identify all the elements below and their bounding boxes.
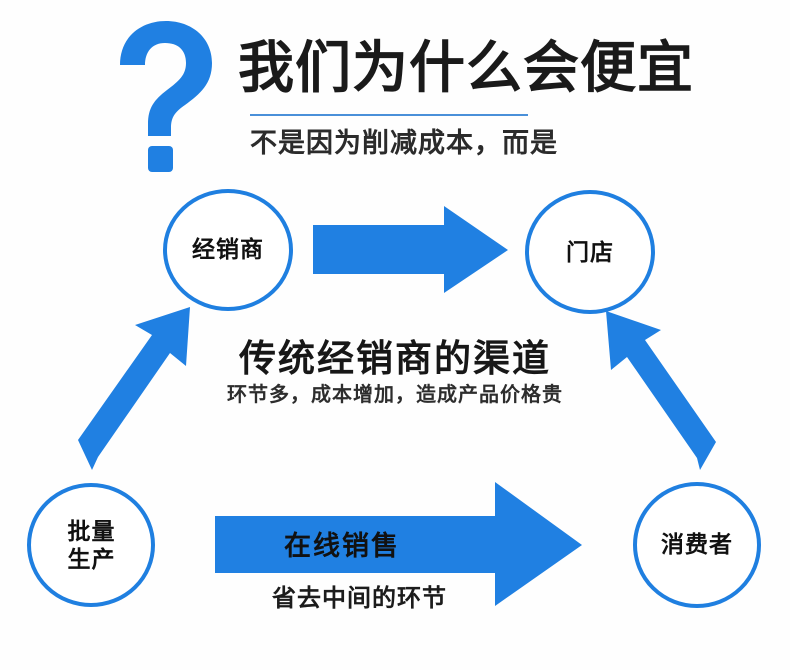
node-consumer-label: 消费者 xyxy=(661,531,733,558)
node-production[interactable]: 批量 生产 xyxy=(27,483,156,608)
node-production-label-line1: 批量 xyxy=(68,518,116,544)
node-consumer[interactable]: 消费者 xyxy=(632,482,762,608)
online-sales-caption: 省去中间的环节 xyxy=(272,578,447,613)
node-production-label-line2: 生产 xyxy=(68,546,116,572)
node-store[interactable]: 门店 xyxy=(524,190,656,315)
node-distributor-label: 经销商 xyxy=(192,236,264,263)
node-production-label: 批量 生产 xyxy=(68,518,116,572)
online-sales-label: 在线销售 xyxy=(284,524,400,563)
node-distributor[interactable]: 经销商 xyxy=(162,188,294,312)
infographic-canvas: 我们为什么会便宜 不是因为削减成本，而是 xyxy=(0,0,790,670)
node-store-label: 门店 xyxy=(566,239,614,266)
